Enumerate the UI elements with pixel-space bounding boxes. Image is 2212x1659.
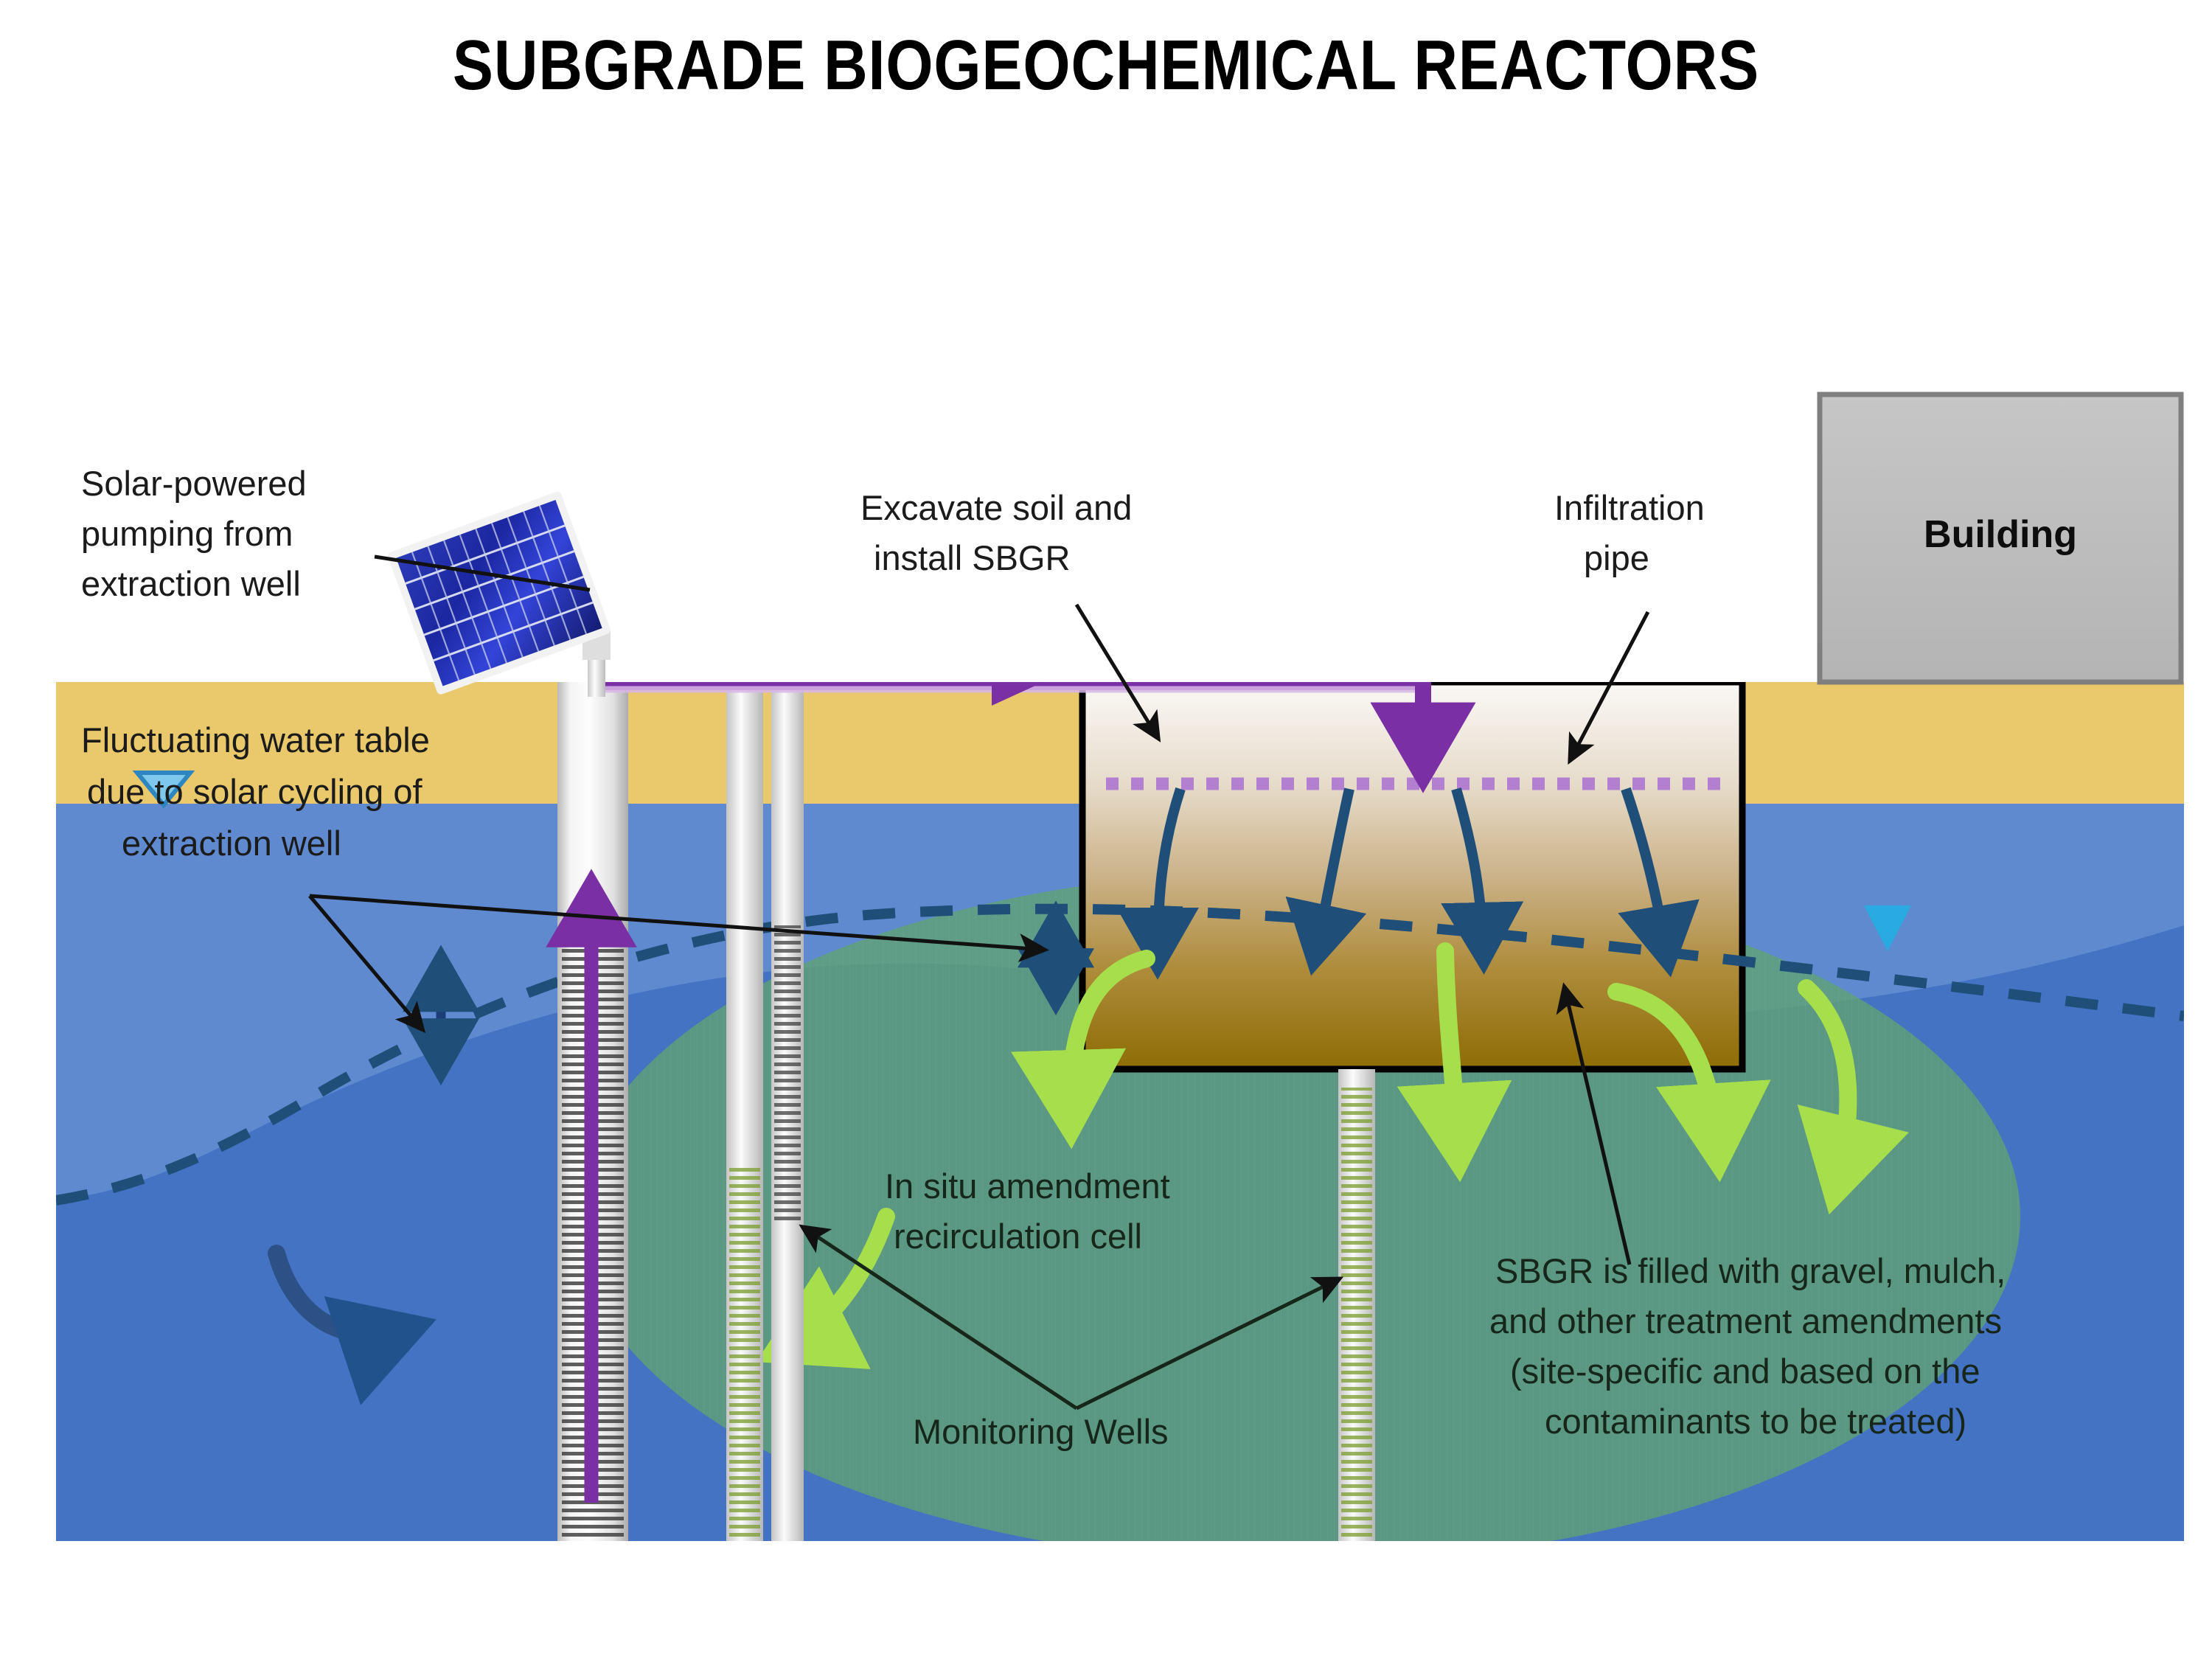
solar-panel-icon bbox=[386, 490, 611, 697]
label-excavate-sbgr: Excavate soil and install SBGR bbox=[860, 488, 1132, 577]
monitoring-well bbox=[1338, 1069, 1375, 1541]
label-monitoring-wells: Monitoring Wells bbox=[913, 1412, 1169, 1451]
label-infiltration-pipe: Infiltration pipe bbox=[1554, 488, 1705, 577]
building: Building bbox=[1820, 394, 2181, 682]
label-line: install SBGR bbox=[874, 538, 1070, 577]
sbgr-schematic: Building bbox=[0, 0, 2212, 1659]
label-line: recirculation cell bbox=[894, 1217, 1142, 1256]
diagram-canvas: SUBGRADE BIOGEOCHEMICAL REACTORS bbox=[0, 0, 2212, 1659]
label-line: (site-specific and based on the bbox=[1510, 1352, 1980, 1391]
monitoring-well bbox=[726, 682, 763, 1541]
monitoring-well bbox=[771, 682, 804, 1541]
label-line: Fluctuating water table bbox=[81, 720, 430, 759]
label-solar-pump: Solar-powered pumping from extraction we… bbox=[81, 464, 307, 603]
label-line: extraction well bbox=[122, 824, 341, 863]
sbgr-reactor-box bbox=[1082, 682, 1742, 1069]
label-line: SBGR is filled with gravel, mulch, bbox=[1495, 1251, 2006, 1290]
label-line: and other treatment amendments bbox=[1489, 1301, 2002, 1340]
label-line: extraction well bbox=[81, 564, 301, 603]
label-line: In situ amendment bbox=[885, 1166, 1170, 1206]
label-line: contaminants to be treated) bbox=[1545, 1402, 1966, 1441]
label-line: Infiltration bbox=[1554, 488, 1705, 527]
building-label: Building bbox=[1924, 513, 2077, 556]
label-line: pipe bbox=[1584, 538, 1649, 577]
label-line: pumping from bbox=[81, 514, 293, 553]
label-line: Excavate soil and bbox=[860, 488, 1132, 527]
label-line: Monitoring Wells bbox=[913, 1412, 1169, 1451]
label-line: due to solar cycling of bbox=[87, 772, 423, 811]
extraction-well bbox=[557, 682, 628, 1541]
label-line: Solar-powered bbox=[81, 464, 307, 503]
